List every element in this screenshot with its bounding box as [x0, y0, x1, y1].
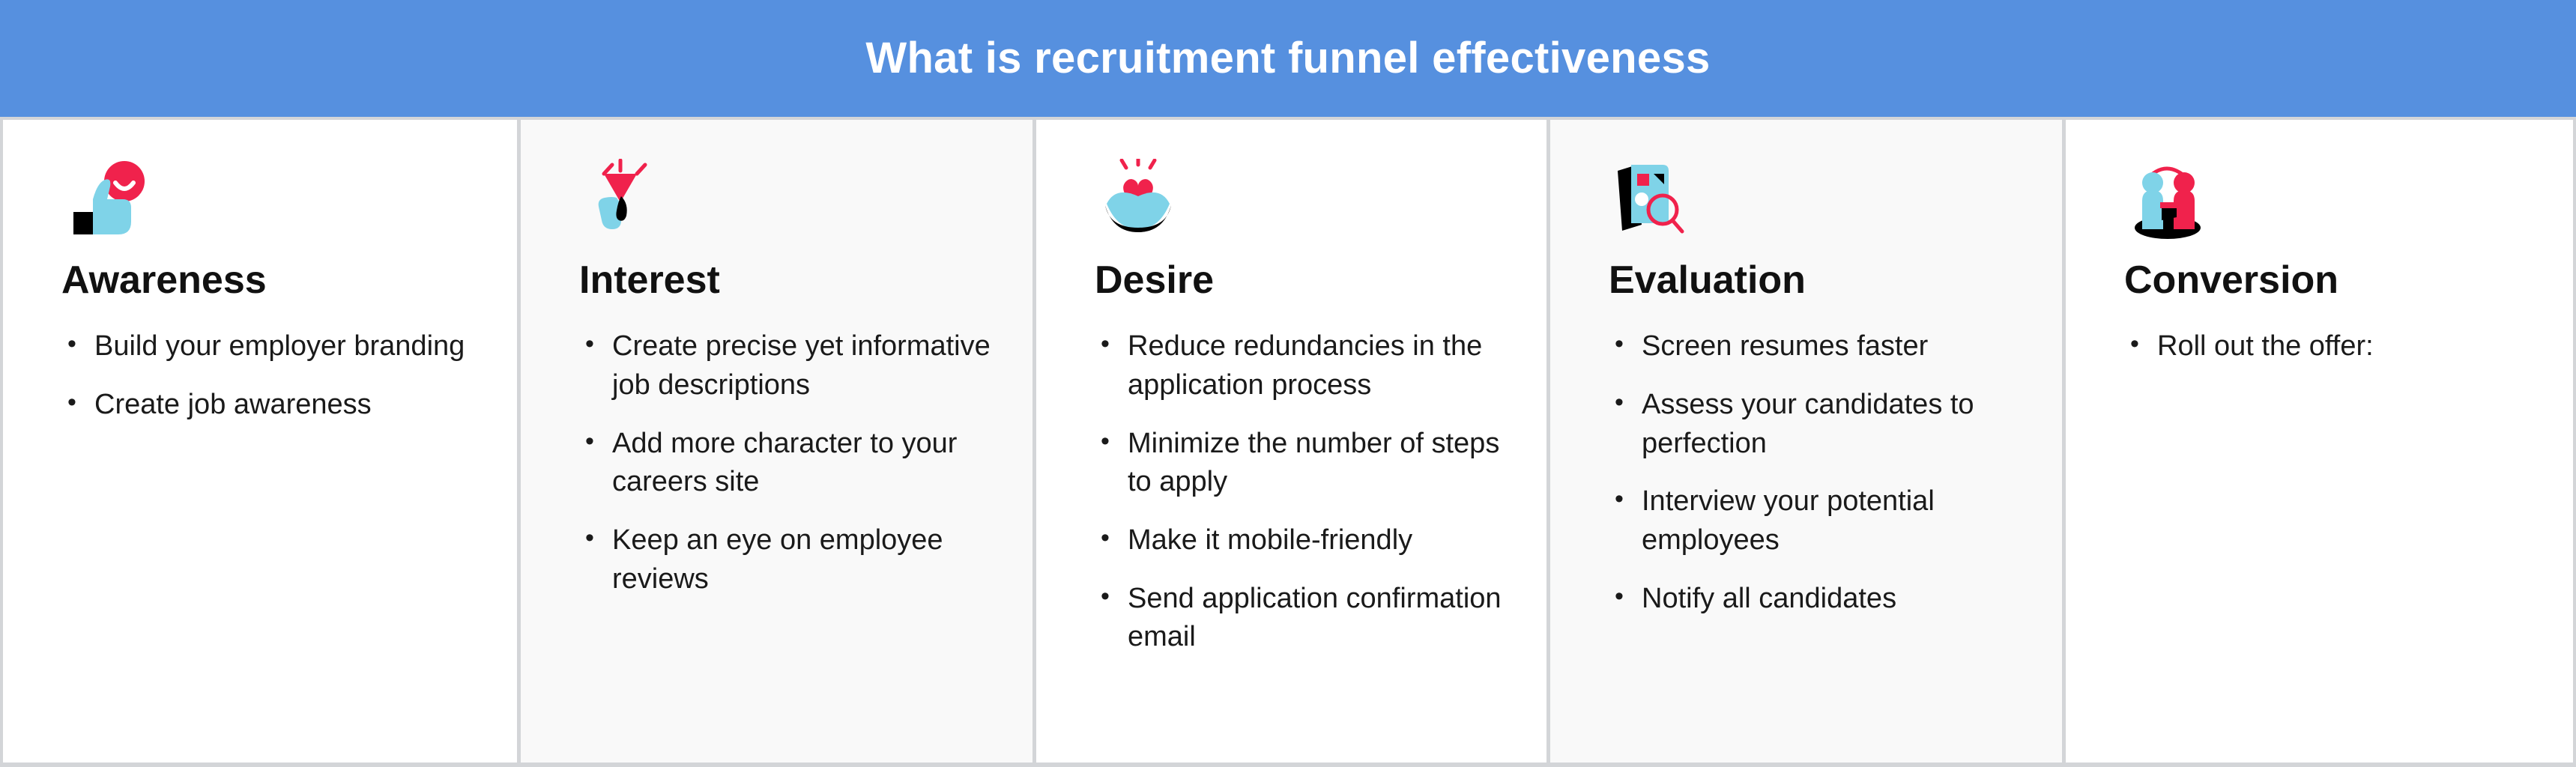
page-title: What is recruitment funnel effectiveness: [865, 37, 1710, 80]
stage-title-evaluation: Evaluation: [1609, 259, 2028, 302]
list-item: Interview your potential employees: [1609, 482, 2028, 560]
recruitment-funnel-infographic: What is recruitment funnel effectiveness…: [0, 0, 2576, 767]
stage-column-interest: Interest Create precise yet informative …: [517, 120, 1032, 763]
handshake-people-icon: [2127, 157, 2217, 240]
bullet-list-desire: Reduce redundancies in the application p…: [1095, 327, 1512, 676]
bullet-list-conversion: Roll out the offer:: [2124, 327, 2539, 386]
header-banner: What is recruitment funnel effectiveness: [0, 0, 2576, 117]
resume-magnifier-icon: [1612, 157, 1702, 240]
list-item: Reduce redundancies in the application p…: [1095, 327, 1512, 404]
stage-column-awareness: Awareness Build your employer branding C…: [3, 120, 517, 763]
list-item: Create precise yet informative job descr…: [579, 327, 998, 404]
stage-column-desire: Desire Reduce redundancies in the applic…: [1032, 120, 1546, 763]
list-item: Assess your candidates to perfection: [1609, 386, 2028, 463]
stage-title-interest: Interest: [579, 259, 998, 302]
list-item: Screen resumes faster: [1609, 327, 2028, 366]
list-item: Add more character to your careers site: [579, 425, 998, 502]
list-item: Make it mobile-friendly: [1095, 521, 1512, 560]
stage-column-evaluation: Evaluation Screen resumes faster Assess …: [1546, 120, 2062, 763]
list-item: Roll out the offer:: [2124, 327, 2539, 366]
list-item: Minimize the number of steps to apply: [1095, 425, 1512, 502]
stage-title-awareness: Awareness: [61, 259, 483, 302]
list-item: Build your employer branding: [61, 327, 483, 366]
list-item: Send application confirmation email: [1095, 580, 1512, 657]
list-item: Notify all candidates: [1609, 580, 2028, 619]
bullet-list-awareness: Build your employer branding Create job …: [61, 327, 483, 443]
stage-title-desire: Desire: [1095, 259, 1512, 302]
stage-title-conversion: Conversion: [2124, 259, 2539, 302]
hand-holding-gem-icon: [582, 157, 672, 240]
list-item: Keep an eye on employee reviews: [579, 521, 998, 598]
bullet-list-evaluation: Screen resumes faster Assess your candid…: [1609, 327, 2028, 637]
bullet-list-interest: Create precise yet informative job descr…: [579, 327, 998, 618]
stage-column-conversion: Conversion Roll out the offer:: [2062, 120, 2573, 763]
list-item: Create job awareness: [61, 386, 483, 425]
funnel-stage-columns: Awareness Build your employer branding C…: [0, 117, 2576, 767]
thumbs-up-smiley-icon: [64, 157, 154, 240]
heart-lotus-icon: [1098, 157, 1188, 240]
